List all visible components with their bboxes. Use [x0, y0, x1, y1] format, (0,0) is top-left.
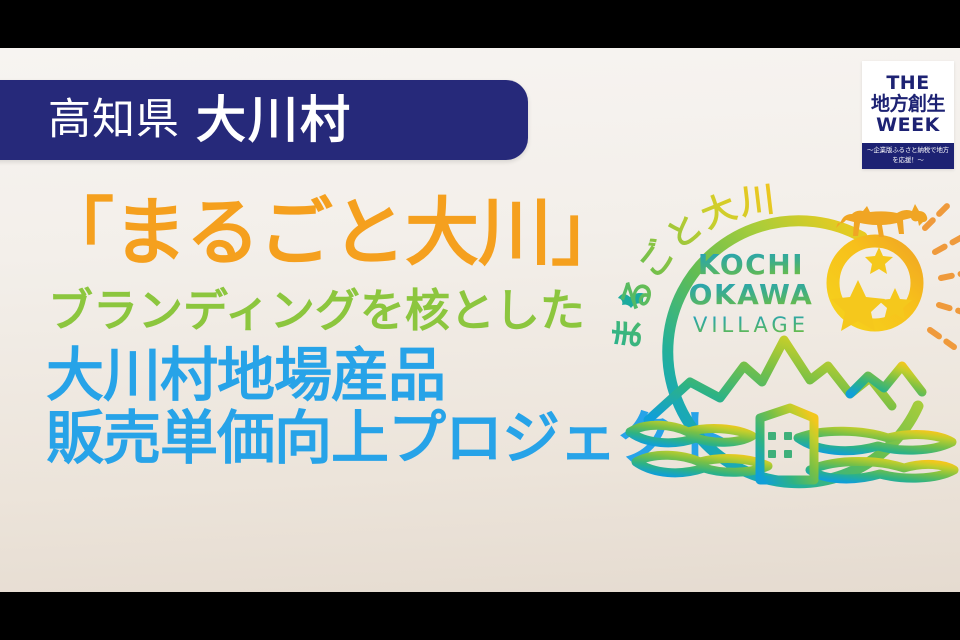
letterbox-bar-bottom: [0, 592, 960, 640]
event-badge: THE 地方創生 WEEK 〜企業版ふるさと納税で地方を応援！〜: [862, 61, 954, 169]
letterbox-bar-top: [0, 0, 960, 48]
event-badge-body: THE 地方創生 WEEK: [862, 61, 954, 143]
headline-project-line-1: 大川村地場産品: [46, 346, 680, 405]
event-badge-tagline: 〜企業版ふるさと納税で地方を応援！〜: [862, 143, 954, 169]
headline-project-line-2: 販売単価向上プロジェクト: [46, 409, 680, 468]
logo-cloud-left: [630, 425, 752, 443]
logo-cloud-right: [798, 431, 952, 450]
logo-building-windows: [768, 432, 792, 458]
prefecture-village-banner: 高知県 大川村: [0, 80, 528, 160]
marugoto-okawa-logo: まるごと大川: [612, 170, 960, 500]
logo-cloud-right-2: [810, 462, 954, 479]
event-badge-the: THE: [886, 74, 929, 94]
headline-subtitle-green: ブランディングを核とした: [48, 288, 680, 333]
logo-name-okawa: OKAWA: [689, 278, 814, 311]
prefecture-label: 高知県: [48, 99, 180, 142]
event-badge-week: WEEK: [876, 116, 940, 136]
logo-sun: [831, 241, 917, 331]
village-label: 大川村: [196, 95, 352, 145]
logo-sun-rays: [925, 204, 960, 347]
event-badge-japanese: 地方創生: [871, 95, 945, 115]
presentation-slide: 高知県 大川村 THE 地方創生 WEEK 〜企業版ふるさと納税で地方を応援！〜…: [0, 48, 960, 592]
logo-name-block: KOCHI OKAWA VILLAGE: [689, 248, 814, 337]
headline-block: 「まるごと大川」 ブランディングを核とした 大川村地場産品 販売単価向上プロジェ…: [40, 196, 680, 468]
slide-canvas: 高知県 大川村 THE 地方創生 WEEK 〜企業版ふるさと納税で地方を応援！〜…: [0, 0, 960, 640]
headline-brand-title: 「まるごと大川」: [40, 196, 680, 270]
logo-name-village: VILLAGE: [693, 313, 809, 337]
logo-cloud-left-2: [636, 455, 768, 473]
logo-name-kochi: KOCHI: [698, 248, 804, 281]
